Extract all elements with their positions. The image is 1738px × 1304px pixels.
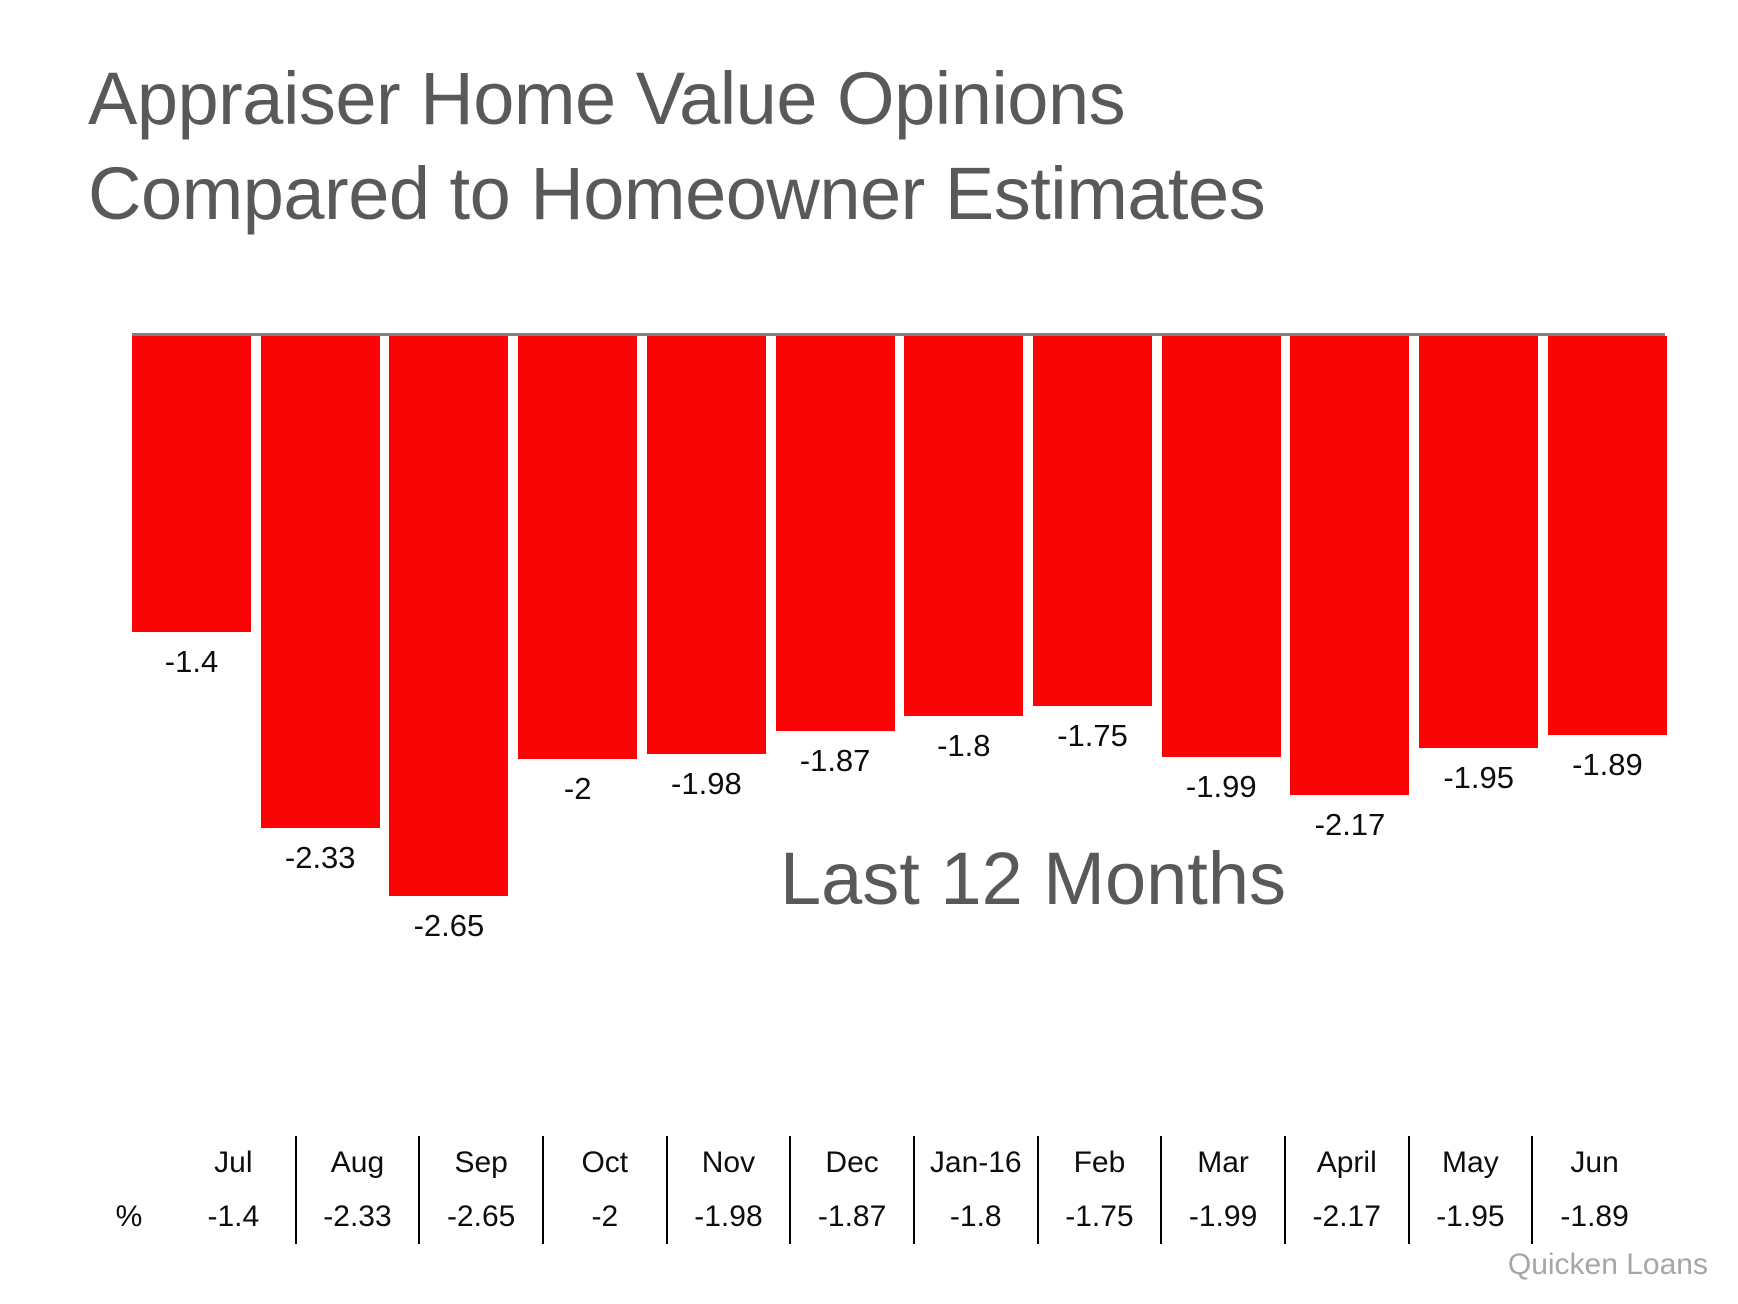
- page-title: Appraiser Home Value Opinions Compared t…: [88, 52, 1528, 241]
- bar-slot-oct: -2: [518, 336, 637, 956]
- data-table: JulAugSepOctNovDecJan-16FebMarAprilMayJu…: [86, 1136, 1656, 1234]
- table-value-aug: -2.33: [296, 1190, 420, 1244]
- table-corner-cell: [86, 1136, 172, 1190]
- table-header-jan-16: Jan-16: [914, 1136, 1038, 1190]
- bar-slot-may: -1.95: [1419, 336, 1538, 956]
- bar-slot-sep: -2.65: [389, 336, 508, 956]
- table-value-may: -1.95: [1409, 1190, 1533, 1244]
- table-header-nov: Nov: [667, 1136, 791, 1190]
- table-value-jun: -1.89: [1532, 1190, 1656, 1244]
- table-value-jan-16: -1.8: [914, 1190, 1038, 1244]
- bar-value-label-may: -1.95: [1443, 760, 1514, 796]
- bar-slot-jun: -1.89: [1548, 336, 1667, 956]
- bar-feb[interactable]: [1033, 336, 1152, 706]
- bar-slot-jul: -1.4: [132, 336, 251, 956]
- bar-value-label-jan-16: -1.8: [937, 728, 990, 764]
- bar-value-label-mar: -1.99: [1186, 769, 1257, 805]
- table-value-nov: -1.98: [667, 1190, 791, 1244]
- table-value-april: -2.17: [1285, 1190, 1409, 1244]
- table-header-aug: Aug: [296, 1136, 420, 1190]
- table-value-feb: -1.75: [1038, 1190, 1162, 1244]
- bar-jan-16[interactable]: [904, 336, 1023, 716]
- table-header-oct: Oct: [543, 1136, 667, 1190]
- bar-value-label-jul: -1.4: [165, 644, 218, 680]
- table-header-may: May: [1409, 1136, 1533, 1190]
- table-value-oct: -2: [543, 1190, 667, 1244]
- table-header-sep: Sep: [419, 1136, 543, 1190]
- table-value-mar: -1.99: [1161, 1190, 1285, 1244]
- bar-dec[interactable]: [776, 336, 895, 731]
- bar-value-label-oct: -2: [564, 771, 592, 807]
- bar-jul[interactable]: [132, 336, 251, 632]
- bar-value-label-aug: -2.33: [285, 840, 356, 876]
- table-header-jun: Jun: [1532, 1136, 1656, 1190]
- table-header-jul: Jul: [172, 1136, 296, 1190]
- data-table-element: JulAugSepOctNovDecJan-16FebMarAprilMayJu…: [86, 1136, 1656, 1244]
- bar-slot-april: -2.17: [1290, 336, 1409, 956]
- bar-jun[interactable]: [1548, 336, 1667, 735]
- bar-mar[interactable]: [1162, 336, 1281, 757]
- bar-april[interactable]: [1290, 336, 1409, 795]
- bar-sep[interactable]: [389, 336, 508, 896]
- slide-canvas: Appraiser Home Value Opinions Compared t…: [0, 0, 1738, 1304]
- bar-value-label-nov: -1.98: [671, 766, 742, 802]
- bar-value-label-dec: -1.87: [800, 743, 871, 779]
- bar-may[interactable]: [1419, 336, 1538, 748]
- table-value-row: %-1.4-2.33-2.65-2-1.98-1.87-1.8-1.75-1.9…: [86, 1190, 1656, 1244]
- bar-oct[interactable]: [518, 336, 637, 759]
- table-header-mar: Mar: [1161, 1136, 1285, 1190]
- table-header-april: April: [1285, 1136, 1409, 1190]
- table-value-dec: -1.87: [790, 1190, 914, 1244]
- table-row-label: %: [86, 1190, 172, 1244]
- table-value-jul: -1.4: [172, 1190, 296, 1244]
- bar-slot-nov: -1.98: [647, 336, 766, 956]
- bar-aug[interactable]: [261, 336, 380, 828]
- bar-value-label-jun: -1.89: [1572, 747, 1643, 783]
- table-value-sep: -2.65: [419, 1190, 543, 1244]
- table-header-feb: Feb: [1038, 1136, 1162, 1190]
- table-header-dec: Dec: [790, 1136, 914, 1190]
- bar-value-label-april: -2.17: [1315, 807, 1386, 843]
- bar-slot-aug: -2.33: [261, 336, 380, 956]
- source-attribution: Quicken Loans: [1508, 1248, 1708, 1282]
- bar-nov[interactable]: [647, 336, 766, 754]
- bar-value-label-feb: -1.75: [1057, 718, 1128, 754]
- table-header-row: JulAugSepOctNovDecJan-16FebMarAprilMayJu…: [86, 1136, 1656, 1190]
- bar-value-label-sep: -2.65: [414, 908, 485, 944]
- chart-annotation: Last 12 Months: [780, 838, 1286, 919]
